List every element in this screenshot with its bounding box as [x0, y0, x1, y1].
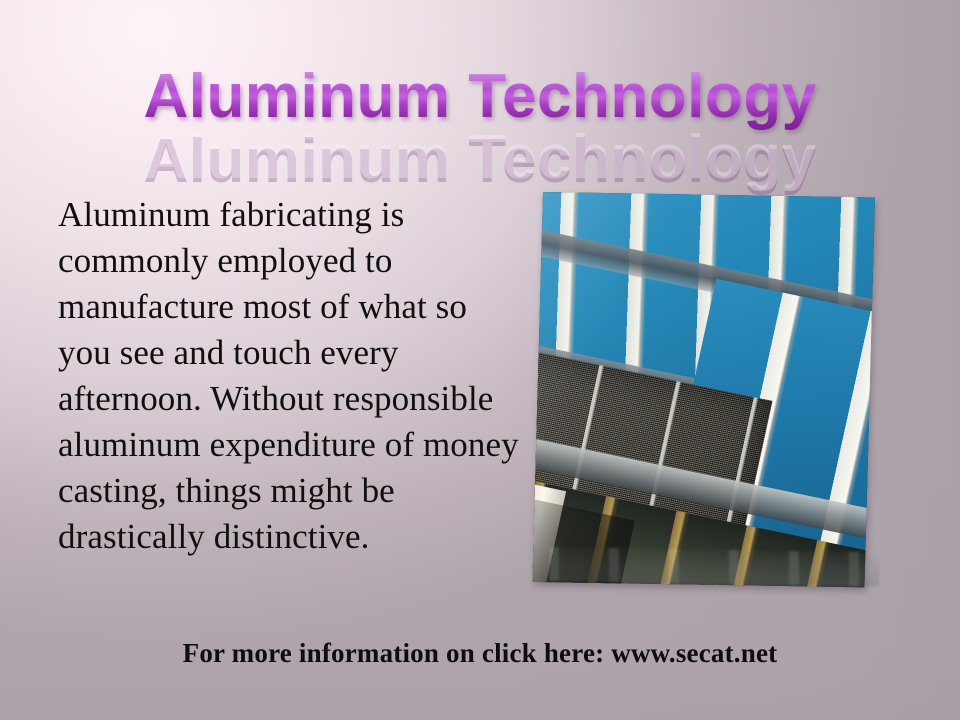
slide-title: Aluminum Technology: [143, 62, 816, 131]
photo-reflection: [549, 547, 880, 586]
slide-title-shadow-layer: Aluminum Technology: [0, 127, 960, 196]
slide-body-text: Aluminum fabricating is commonly employe…: [58, 192, 528, 560]
glass-sheen-overlay: [532, 192, 875, 587]
facade-photo-stage: [543, 192, 883, 602]
photo-content: [532, 192, 875, 587]
footer-link-text[interactable]: For more information on click here: www.…: [183, 638, 778, 669]
presentation-slide: Aluminum Technology Aluminum Technology …: [0, 0, 960, 720]
slide-title-highlight-layer: Aluminum Technology: [0, 123, 960, 192]
slide-footer: For more information on click here: www.…: [0, 638, 960, 669]
slide-title-container: Aluminum Technology Aluminum Technology …: [0, 62, 960, 131]
aluminum-glass-building-facade-photo: [532, 192, 875, 587]
